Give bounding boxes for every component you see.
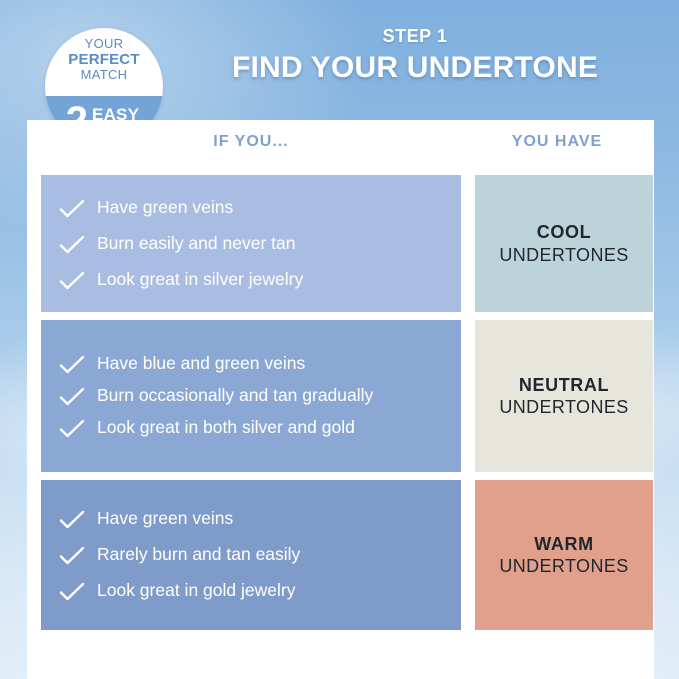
- undertone-row-neutral: Have blue and green veins Burn occasiona…: [27, 320, 654, 472]
- undertone-swatch-warm: WARM UNDERTONES: [475, 480, 653, 630]
- criteria-text: Have blue and green veins: [97, 353, 445, 374]
- undertone-row-warm: Have green veins Rarely burn and tan eas…: [27, 480, 654, 630]
- check-icon: [59, 510, 85, 530]
- criteria-item: Rarely burn and tan easily: [59, 537, 445, 573]
- criteria-text: Have green veins: [97, 508, 445, 529]
- criteria-text: Look great in silver jewelry: [97, 269, 445, 290]
- undertone-swatch-neutral: NEUTRAL UNDERTONES: [475, 320, 653, 472]
- criteria-text: Look great in both silver and gold: [97, 417, 445, 438]
- check-icon: [59, 582, 85, 602]
- undertone-sublabel: UNDERTONES: [499, 396, 628, 419]
- undertone-name: COOL: [537, 221, 591, 244]
- badge-top-text: YOUR PERFECT MATCH: [45, 37, 163, 83]
- undertone-row-cool: Have green veins Burn easily and never t…: [27, 175, 654, 312]
- check-icon: [59, 271, 85, 291]
- criteria-item: Look great in both silver and gold: [59, 412, 445, 444]
- undertone-rows: Have green veins Burn easily and never t…: [27, 175, 654, 630]
- check-icon: [59, 419, 85, 439]
- step-label: STEP 1: [170, 27, 660, 47]
- criteria-item: Burn easily and never tan: [59, 226, 445, 262]
- column-header-you-have: YOU HAVE: [461, 133, 653, 151]
- undertone-name: NEUTRAL: [519, 374, 609, 397]
- criteria-text: Have green veins: [97, 197, 445, 218]
- infographic-page: YOUR PERFECT MATCH 2 EASY STEPS STEP 1 F…: [0, 0, 679, 679]
- criteria-text: Burn easily and never tan: [97, 233, 445, 254]
- check-icon: [59, 546, 85, 566]
- criteria-item: Look great in silver jewelry: [59, 262, 445, 298]
- check-icon: [59, 355, 85, 375]
- criteria-text: Burn occasionally and tan gradually: [97, 385, 445, 406]
- check-icon: [59, 199, 85, 219]
- undertone-sublabel: UNDERTONES: [499, 555, 628, 578]
- criteria-list-warm: Have green veins Rarely burn and tan eas…: [41, 480, 461, 630]
- badge-line-match: MATCH: [45, 68, 163, 83]
- criteria-list-neutral: Have blue and green veins Burn occasiona…: [41, 320, 461, 472]
- column-header-row: IF YOU... YOU HAVE: [27, 133, 654, 169]
- criteria-list-cool: Have green veins Burn easily and never t…: [41, 175, 461, 312]
- undertone-name: WARM: [534, 533, 593, 556]
- criteria-text: Rarely burn and tan easily: [97, 544, 445, 565]
- criteria-item: Have green veins: [59, 190, 445, 226]
- criteria-item: Look great in gold jewelry: [59, 573, 445, 609]
- undertone-sublabel: UNDERTONES: [499, 244, 628, 267]
- criteria-text: Look great in gold jewelry: [97, 580, 445, 601]
- badge-line-your: YOUR: [45, 37, 163, 52]
- check-icon: [59, 387, 85, 407]
- criteria-item: Burn occasionally and tan gradually: [59, 380, 445, 412]
- undertone-swatch-cool: COOL UNDERTONES: [475, 175, 653, 312]
- header-title-block: STEP 1 FIND YOUR UNDERTONE: [170, 27, 660, 83]
- criteria-item: Have blue and green veins: [59, 348, 445, 380]
- badge-line-perfect: PERFECT: [45, 52, 163, 69]
- column-header-if-you: IF YOU...: [41, 133, 461, 151]
- check-icon: [59, 235, 85, 255]
- content-panel: IF YOU... YOU HAVE Have green veins: [27, 120, 654, 679]
- page-title: FIND YOUR UNDERTONE: [170, 52, 660, 84]
- criteria-item: Have green veins: [59, 501, 445, 537]
